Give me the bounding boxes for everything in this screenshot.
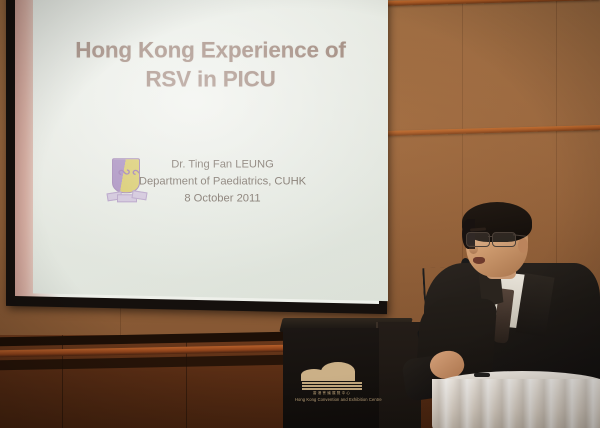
speaker-nose <box>469 244 478 254</box>
hkcec-bars-icon <box>302 382 362 390</box>
slide-title: Hong Kong Experience of RSV in PICU <box>33 36 388 94</box>
projection-screen-surface: n & 14th Annu Hong Kong Experience of RS… <box>33 0 388 301</box>
podium-front-panel: 香港會議展覽中心 Hong Kong Convention and Exhibi… <box>283 328 379 428</box>
slide-date: 8 October 2011 <box>57 190 388 207</box>
projection-screen-frame: n & 14th Annu Hong Kong Experience of RS… <box>6 0 387 314</box>
hkcec-bar <box>302 385 362 387</box>
hkcec-logo-chinese-text: 香港會議展覽中心 <box>295 391 369 396</box>
presentation-photo-scene: n & 14th Annu Hong Kong Experience of RS… <box>0 0 600 428</box>
slide-title-line-1: Hong Kong Experience of <box>75 37 345 62</box>
slide-affiliation: Department of Paediatrics, CUHK <box>57 173 388 190</box>
slide-title-line-2: RSV in PICU <box>33 65 388 94</box>
slide-content: n & 14th Annu Hong Kong Experience of RS… <box>33 0 388 301</box>
slide-header-band: n & 14th Annu <box>33 0 388 5</box>
conference-logo-icon: n <box>69 0 95 1</box>
hkcec-logo: 香港會議展覽中心 Hong Kong Convention and Exhibi… <box>295 361 369 402</box>
projection-screen-bezel: n & 14th Annu Hong Kong Experience of RS… <box>15 0 379 304</box>
glasses-bridge <box>488 236 493 237</box>
hkcec-arcs-icon <box>295 361 369 381</box>
slide-author-block: Dr. Ting Fan LEUNG Department of Paediat… <box>57 156 388 207</box>
speaker-mouth <box>473 257 485 264</box>
slide-author-name: Dr. Ting Fan LEUNG <box>57 156 388 173</box>
speaker-person <box>424 205 600 395</box>
table-cloth-skirt <box>432 379 600 428</box>
hkcec-arc-large <box>321 362 355 381</box>
draped-round-table <box>432 371 600 428</box>
hkcec-bar <box>302 382 362 384</box>
hkcec-bar <box>302 388 362 390</box>
hkcec-logo-english-text: Hong Kong Convention and Exhibition Cent… <box>295 397 369 402</box>
table-object <box>474 373 490 377</box>
